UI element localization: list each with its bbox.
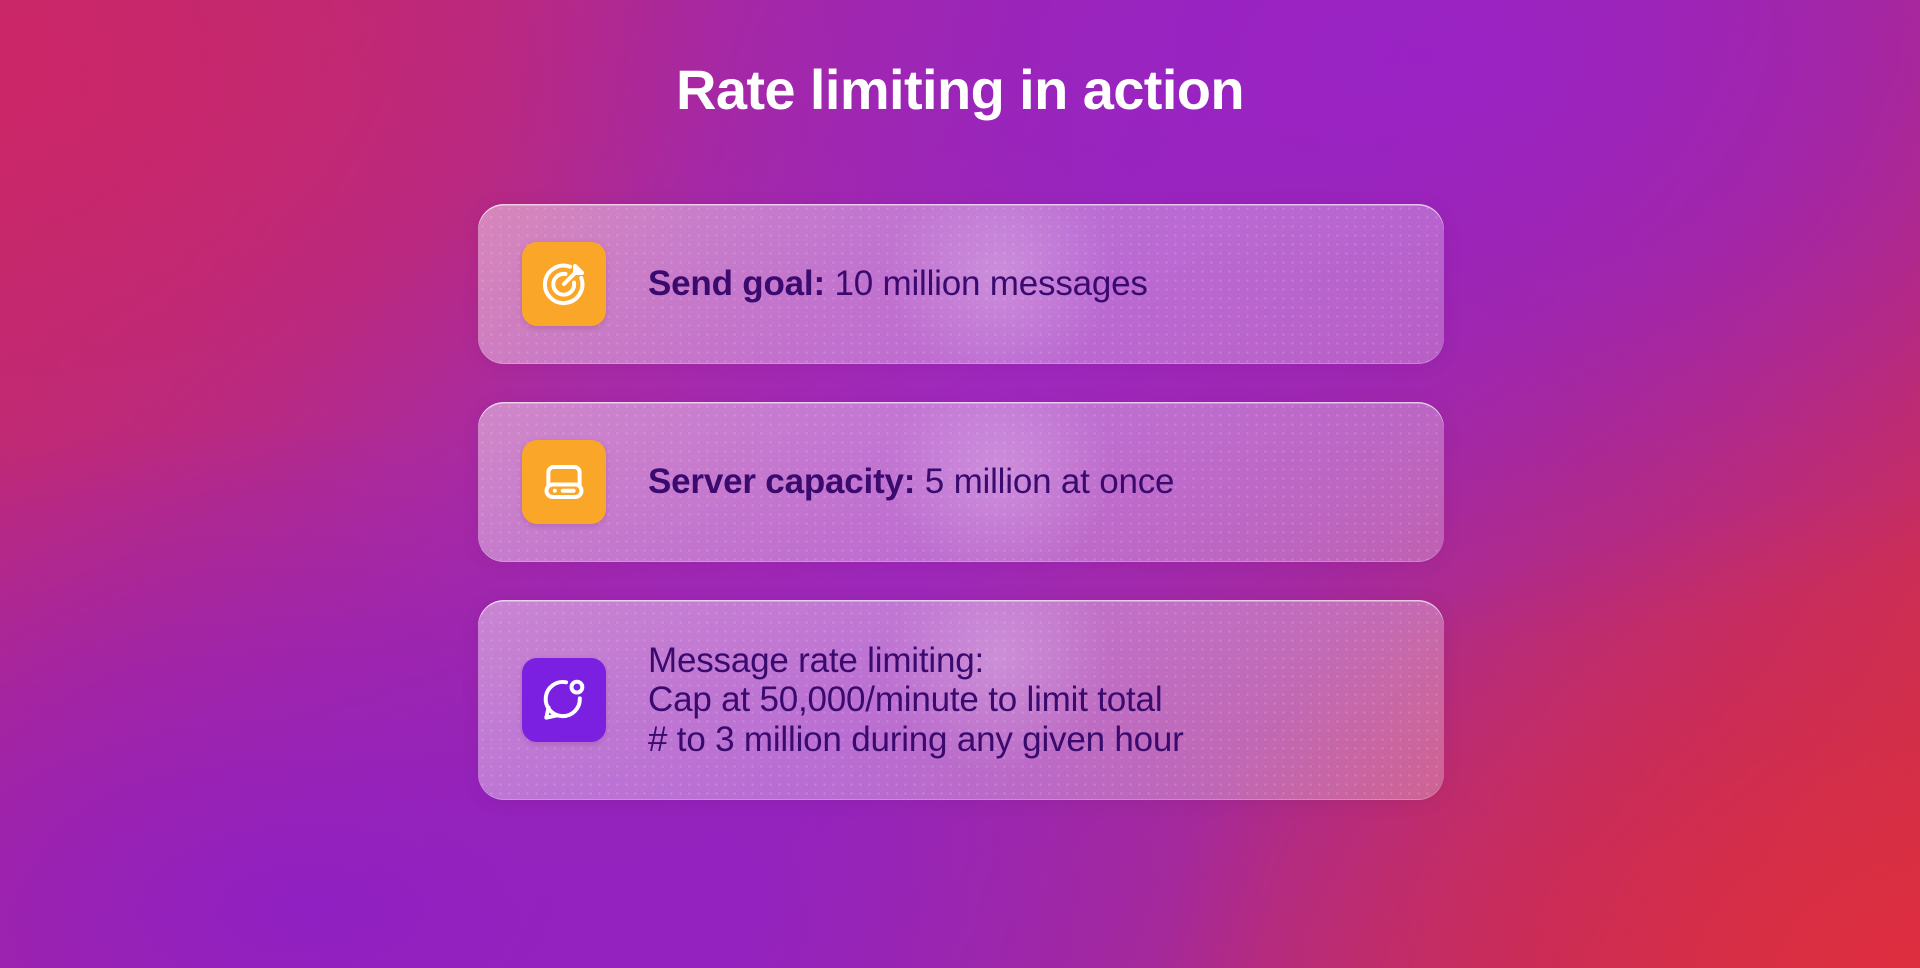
server-icon: [522, 440, 606, 524]
target-icon: [522, 242, 606, 326]
card-server-capacity-text: Server capacity: 5 million at once: [648, 462, 1174, 502]
card-server-capacity-value: 5 million at once: [925, 462, 1175, 501]
card-send-goal: Send goal: 10 million messages: [478, 204, 1444, 364]
card-server-capacity: Server capacity: 5 million at once: [478, 402, 1444, 562]
card-send-goal-value: 10 million messages: [834, 264, 1147, 303]
card-list: Send goal: 10 million messages Server ca…: [478, 204, 1444, 800]
page-title: Rate limiting in action: [0, 60, 1920, 119]
card-message-rate-limiting-line-2: # to 3 million during any given hour: [648, 720, 1184, 760]
slide-canvas: Rate limiting in action Send goal: 10 mi…: [0, 0, 1920, 968]
card-send-goal-label: Send goal:: [648, 264, 825, 303]
card-message-rate-limiting-text: Message rate limiting: Cap at 50,000/min…: [648, 641, 1184, 760]
message-bubble-icon: [522, 658, 606, 742]
card-send-goal-text: Send goal: 10 million messages: [648, 264, 1148, 304]
card-server-capacity-label: Server capacity:: [648, 462, 915, 501]
card-message-rate-limiting-line-1: Cap at 50,000/minute to limit total: [648, 680, 1184, 720]
card-message-rate-limiting-label: Message rate limiting:: [648, 641, 1184, 681]
card-message-rate-limiting: Message rate limiting: Cap at 50,000/min…: [478, 600, 1444, 800]
